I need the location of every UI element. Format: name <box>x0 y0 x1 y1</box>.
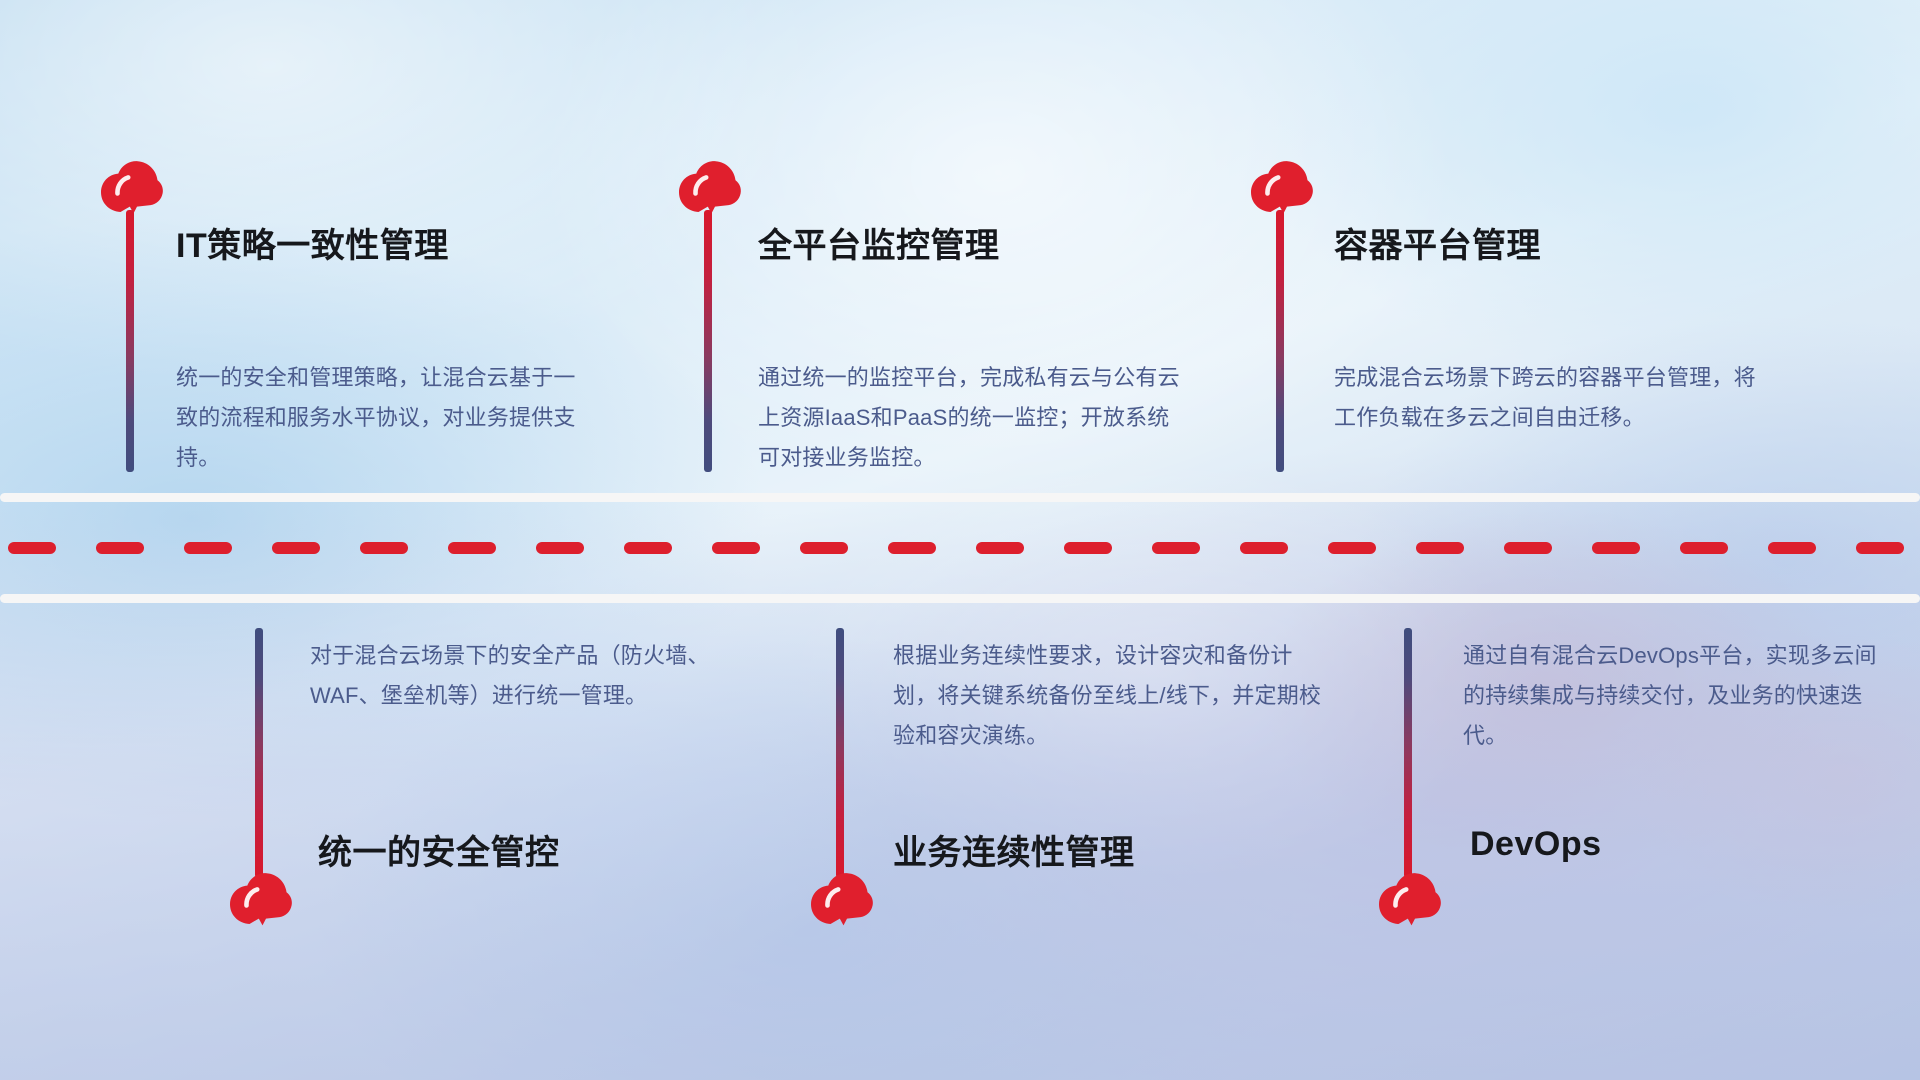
cloud-pin-icon <box>810 872 874 926</box>
road-dash <box>1152 542 1200 554</box>
cloud-pin-icon <box>1250 160 1314 214</box>
road-divider <box>0 493 1920 603</box>
cloud-pin-icon <box>1378 872 1442 926</box>
title-top-3: 容器平台管理 <box>1334 218 1541 267</box>
stem-top-2 <box>704 210 712 472</box>
road-dash <box>96 542 144 554</box>
title-top-1: IT策略一致性管理 <box>176 218 449 267</box>
road-line-top <box>0 493 1920 502</box>
road-dash <box>1416 542 1464 554</box>
road-dash <box>360 542 408 554</box>
stem-bottom-3 <box>1404 628 1412 878</box>
infographic-canvas: IT策略一致性管理 统一的安全和管理策略，让混合云基于一致的流程和服务水平协议，… <box>0 0 1920 1080</box>
stem-bottom-2 <box>836 628 844 878</box>
body-top-3: 完成混合云场景下跨云的容器平台管理，将工作负载在多云之间自由迁移。 <box>1334 358 1764 438</box>
title-bottom-3: DevOps <box>1470 825 1602 864</box>
road-dash <box>272 542 320 554</box>
stem-top-1 <box>126 210 134 472</box>
body-bottom-3: 通过自有混合云DevOps平台，实现多云间的持续集成与持续交付，及业务的快速迭代… <box>1463 636 1893 756</box>
road-dash <box>1328 542 1376 554</box>
title-bottom-2: 业务连续性管理 <box>893 825 1135 874</box>
cloud-pin-icon <box>100 160 164 214</box>
road-dash <box>1856 542 1904 554</box>
road-dash <box>888 542 936 554</box>
road-dash <box>448 542 496 554</box>
title-bottom-1: 统一的安全管控 <box>318 825 560 874</box>
road-dash <box>1504 542 1552 554</box>
cloud-pin-icon <box>229 872 293 926</box>
title-top-2: 全平台监控管理 <box>758 218 1000 267</box>
road-dash <box>184 542 232 554</box>
road-dash <box>800 542 848 554</box>
body-bottom-2: 根据业务连续性要求，设计容灾和备份计划，将关键系统备份至线上/线下，并定期校验和… <box>893 636 1323 756</box>
road-dash <box>1768 542 1816 554</box>
road-dash <box>712 542 760 554</box>
road-dash <box>1680 542 1728 554</box>
road-dash <box>1592 542 1640 554</box>
stem-bottom-1 <box>255 628 263 878</box>
stem-top-3 <box>1276 210 1284 472</box>
road-dash <box>624 542 672 554</box>
body-top-2: 通过统一的监控平台，完成私有云与公有云上资源IaaS和PaaS的统一监控；开放系… <box>758 358 1188 478</box>
cloud-pin-icon <box>678 160 742 214</box>
road-dash <box>8 542 56 554</box>
body-top-1: 统一的安全和管理策略，让混合云基于一致的流程和服务水平协议，对业务提供支持。 <box>176 358 586 478</box>
road-dash <box>976 542 1024 554</box>
body-bottom-1: 对于混合云场景下的安全产品（防火墙、WAF、堡垒机等）进行统一管理。 <box>310 636 740 716</box>
road-dash <box>1064 542 1112 554</box>
road-line-bottom <box>0 594 1920 603</box>
road-dash <box>536 542 584 554</box>
road-dashed-line <box>0 542 1920 554</box>
road-dash <box>1240 542 1288 554</box>
